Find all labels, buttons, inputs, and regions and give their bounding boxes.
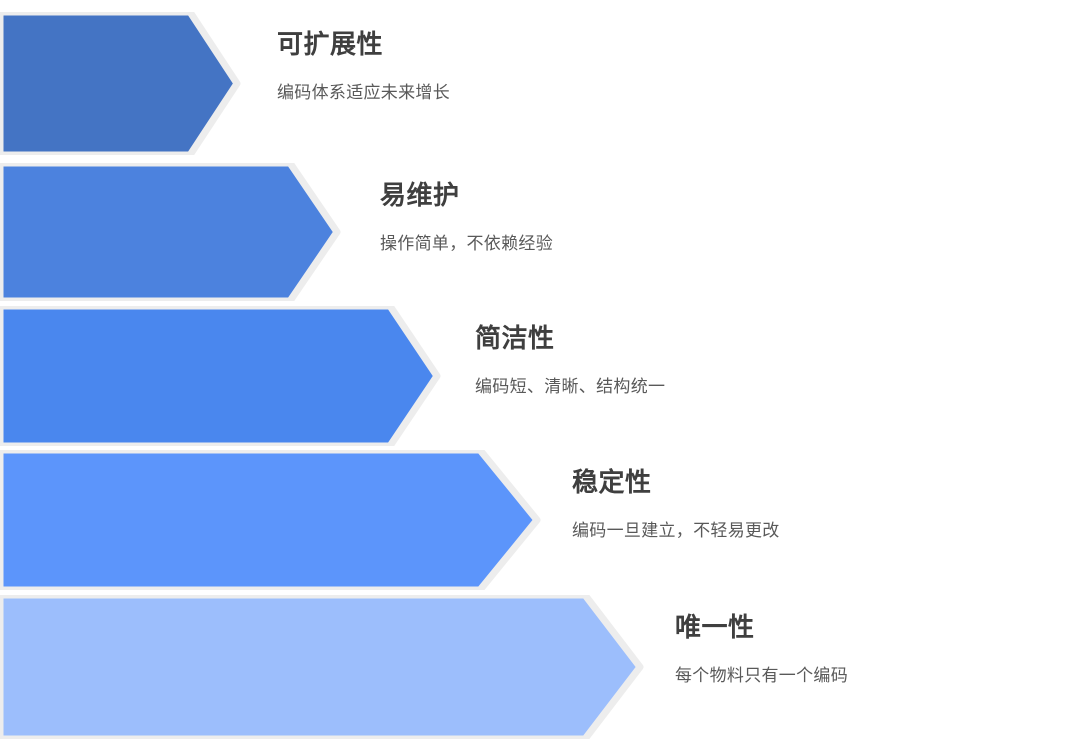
chevron-row-title: 可扩展性: [277, 30, 450, 60]
chevron-row[interactable]: 可扩展性编码体系适应未来增长: [0, 12, 1068, 155]
chevron-row-subtitle: 编码体系适应未来增长: [277, 82, 450, 104]
chevron-row-title: 易维护: [380, 181, 553, 211]
chevron-arrow[interactable]: [0, 306, 447, 446]
chevron-arrow[interactable]: [0, 595, 650, 739]
chevron-row-text: 易维护操作简单，不依赖经验: [380, 181, 553, 255]
chevron-arrow[interactable]: [0, 450, 547, 590]
chevron-arrow[interactable]: [0, 163, 347, 301]
chevron-row-title: 稳定性: [572, 468, 780, 498]
stepped-chevron-diagram: 可扩展性编码体系适应未来增长易维护操作简单，不依赖经验简洁性编码短、清晰、结构统…: [0, 0, 1068, 739]
chevron-row[interactable]: 唯一性每个物料只有一个编码: [0, 595, 1068, 739]
chevron-row[interactable]: 稳定性编码一旦建立，不轻易更改: [0, 450, 1068, 590]
chevron-row[interactable]: 易维护操作简单，不依赖经验: [0, 163, 1068, 301]
chevron-row-subtitle: 编码短、清晰、结构统一: [475, 376, 665, 398]
chevron-row-subtitle: 编码一旦建立，不轻易更改: [572, 520, 780, 542]
chevron-row-subtitle: 操作简单，不依赖经验: [380, 233, 553, 255]
chevron-row-text: 简洁性编码短、清晰、结构统一: [475, 324, 665, 398]
chevron-row-subtitle: 每个物料只有一个编码: [675, 665, 848, 687]
chevron-row-title: 唯一性: [675, 613, 848, 643]
chevron-row[interactable]: 简洁性编码短、清晰、结构统一: [0, 306, 1068, 446]
chevron-row-text: 稳定性编码一旦建立，不轻易更改: [572, 468, 780, 542]
chevron-row-text: 可扩展性编码体系适应未来增长: [277, 30, 450, 104]
chevron-row-title: 简洁性: [475, 324, 665, 354]
chevron-row-text: 唯一性每个物料只有一个编码: [675, 613, 848, 687]
chevron-arrow[interactable]: [0, 12, 247, 155]
